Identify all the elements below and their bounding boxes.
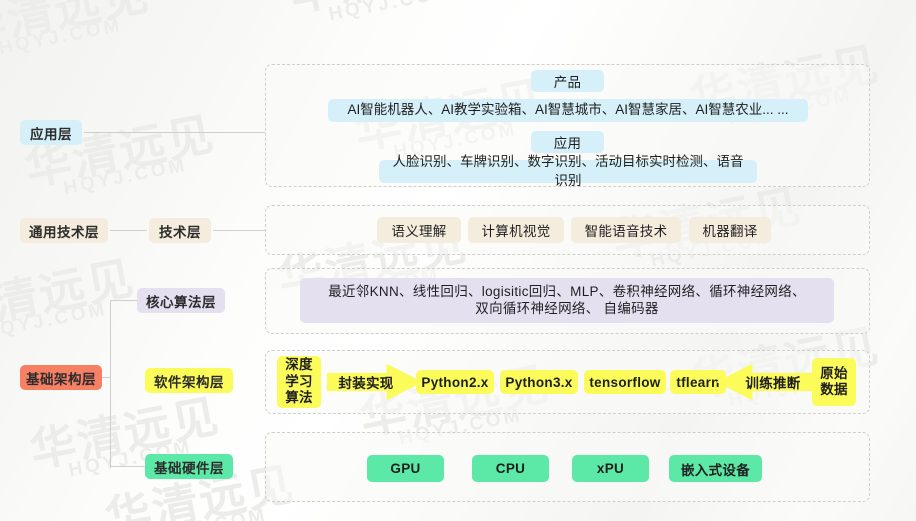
raw-data-line-1: 原始 [820, 366, 848, 382]
panel-base-hardware [265, 432, 870, 502]
chip-tech-0[interactable]: 语义理解 [377, 217, 461, 243]
chip-tech-2[interactable]: 智能语音技术 [571, 217, 681, 243]
raw-data-line-2: 数据 [820, 382, 848, 398]
layer-label-base-hardware[interactable]: 基础硬件层 [145, 454, 233, 479]
chip-framework-1[interactable]: Python3.x [500, 370, 578, 394]
bracket-stem [102, 377, 110, 378]
algorithm-line-2: 双向循环神经网络、 自编码器 [475, 301, 658, 317]
arrow-left-icon-training-inference: 训练推断 [716, 363, 812, 401]
arrow-label-training-inference: 训练推断 [745, 372, 800, 392]
layer-label-software-arch[interactable]: 软件架构层 [145, 368, 233, 393]
bracket-spine [110, 300, 111, 466]
chip-hardware-3[interactable]: 嵌入式设备 [669, 455, 762, 482]
chip-framework-2[interactable]: tensorflow [584, 370, 666, 394]
chip-hardware-0[interactable]: GPU [367, 455, 444, 482]
connector-tech [213, 230, 265, 231]
chip-product-title: 产品 [531, 70, 604, 92]
chip-raw-data[interactable]: 原始 数据 [812, 358, 856, 406]
chip-hardware-2[interactable]: xPU [572, 455, 649, 482]
connector-application [84, 132, 265, 133]
chip-algorithm-list: 最近邻KNN、线性回归、logisitic回归、MLP、卷积神经网络、循环神经网… [300, 278, 834, 323]
deep-learning-line-3: 算法 [285, 390, 313, 406]
panel-technology [265, 205, 870, 255]
layer-label-tech[interactable]: 技术层 [149, 218, 211, 243]
chip-application-title: 应用 [531, 131, 604, 153]
algorithm-line-1: 最近邻KNN、线性回归、logisitic回归、MLP、卷积神经网络、循环神经网… [328, 284, 806, 300]
layer-label-infrastructure[interactable]: 基础架构层 [20, 365, 102, 390]
layer-label-core-algorithm[interactable]: 核心算法层 [137, 288, 225, 313]
chip-tech-1[interactable]: 计算机视觉 [468, 217, 564, 243]
chip-hardware-1[interactable]: CPU [472, 455, 549, 482]
deep-learning-line-1: 深度 [285, 357, 313, 373]
chip-framework-0[interactable]: Python2.x [416, 370, 494, 394]
architecture-diagram: 应用层 通用技术层 技术层 基础架构层 核心算法层 软件架构层 基础硬件层 产品… [0, 0, 916, 521]
chip-deep-learning-algorithm[interactable]: 深度 学习 算法 [277, 356, 321, 408]
layer-label-application[interactable]: 应用层 [20, 120, 82, 145]
bracket-branch-base-hardware [110, 466, 147, 467]
arrow-right-icon-encapsulation: 封装实现 [327, 363, 423, 401]
text-product-items: AI智能机器人、AI教学实验箱、AI智慧城市、AI智慧家居、AI智慧农业... … [328, 99, 808, 122]
arrow-label-encapsulation: 封装实现 [338, 372, 393, 392]
chip-tech-3[interactable]: 机器翻译 [689, 217, 771, 243]
layer-label-general-tech[interactable]: 通用技术层 [20, 218, 108, 243]
deep-learning-line-2: 学习 [285, 374, 313, 390]
connector-general-tech [110, 230, 147, 231]
text-application-items: 人脸识别、车牌识别、数字识别、活动目标实时检测、语音识别 [379, 160, 757, 183]
